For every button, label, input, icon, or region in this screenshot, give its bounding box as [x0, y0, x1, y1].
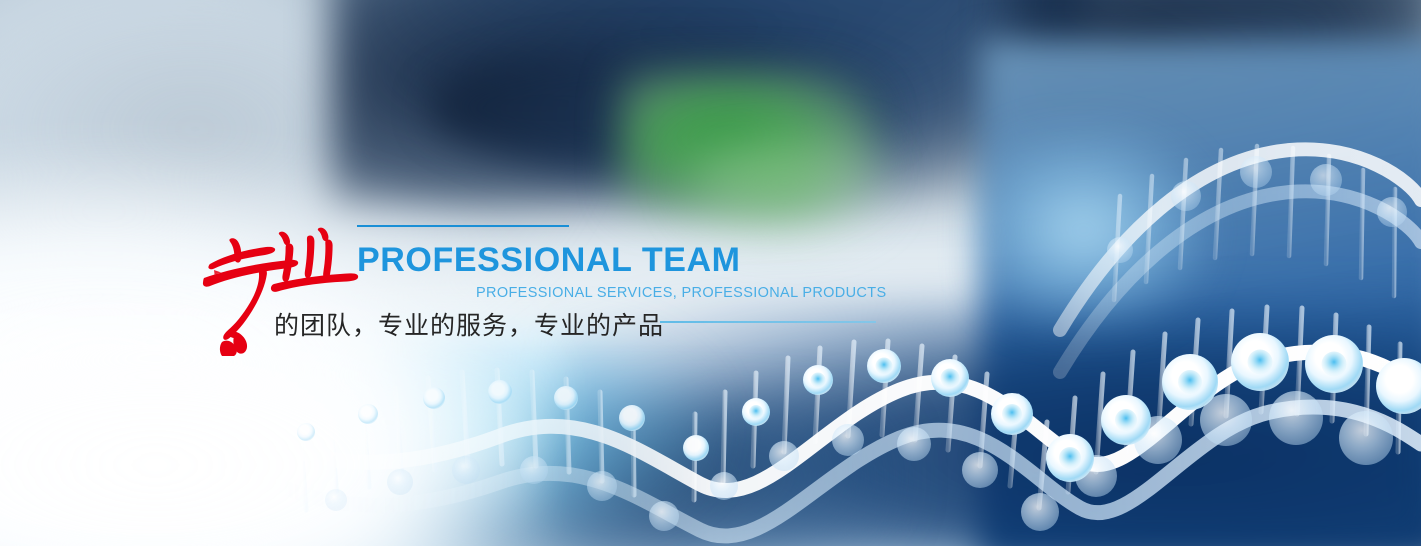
chinese-tagline: 的团队，专业的服务，专业的产品	[274, 306, 664, 342]
professional-team-banner: PROFESSIONAL TEAM PROFESSIONAL SERVICES,…	[0, 0, 1421, 546]
banner-text-block: PROFESSIONAL TEAM PROFESSIONAL SERVICES,…	[0, 0, 1421, 546]
page-subtitle: PROFESSIONAL SERVICES, PROFESSIONAL PROD…	[476, 285, 886, 301]
page-title: PROFESSIONAL TEAM	[357, 241, 741, 280]
top-divider-rule	[357, 225, 569, 227]
right-divider-rule	[660, 321, 876, 323]
